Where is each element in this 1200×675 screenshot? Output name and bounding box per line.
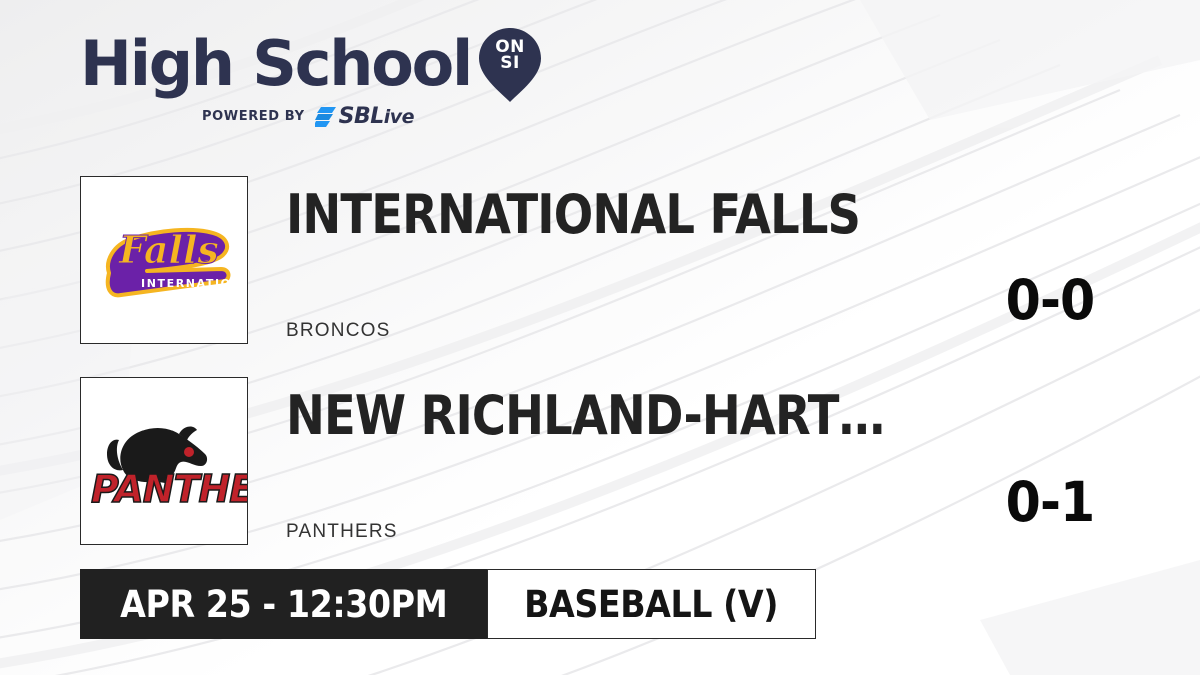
svg-text:PANTHERS: PANTHERS: [91, 467, 247, 511]
game-sport-text: BASEBALL (V): [525, 583, 779, 626]
on-si-pin-icon: ON SI: [479, 28, 541, 102]
sblive-bolt-icon: [315, 107, 337, 127]
team-logo-panthers: PANTHERS: [80, 377, 248, 545]
pin-label-line2: SI: [479, 55, 541, 71]
matchup-graphic: High School ON SI POWERED BY SBLive: [0, 0, 1200, 675]
game-info-bar: APR 25 - 12:30PM BASEBALL (V): [80, 569, 816, 639]
team-record: 0-1: [949, 475, 1151, 530]
team-record: 0-0: [949, 273, 1151, 328]
team-info: INTERNATIONAL FALLS BRONCOS: [286, 176, 1010, 346]
powered-by-row: POWERED BY SBLive: [80, 104, 540, 129]
game-sport: BASEBALL (V): [487, 569, 815, 639]
team-name: NEW RICHLAND-HARTLAND...: [286, 385, 909, 447]
game-datetime: APR 25 - 12:30PM: [80, 569, 487, 639]
sblive-wordmark: SBLive: [339, 104, 414, 129]
game-datetime-text: APR 25 - 12:30PM: [120, 583, 447, 626]
brand-header: High School ON SI POWERED BY SBLive: [80, 28, 540, 138]
team-row: PANTHERS NEW RICHLAND-HARTLAND... PANTHE…: [80, 377, 1120, 547]
pin-label: ON SI: [479, 39, 541, 71]
team-info: NEW RICHLAND-HARTLAND... PANTHERS: [286, 377, 1010, 547]
team-row: Falls INTERNATIONAL INTERNATIONAL FALLS …: [80, 176, 1120, 346]
sblive-suffix: ive: [384, 106, 414, 128]
sblive-main: SBL: [339, 104, 384, 129]
powered-by-label: POWERED BY: [202, 109, 305, 124]
team-mascot: BRONCOS: [286, 320, 390, 342]
sblive-logo: SBLive: [315, 104, 414, 129]
team-mascot: PANTHERS: [286, 521, 398, 543]
svg-text:Falls: Falls: [118, 227, 219, 272]
team-logo-international-falls: Falls INTERNATIONAL: [80, 176, 248, 344]
svg-text:INTERNATIONAL: INTERNATIONAL: [141, 277, 247, 290]
brand-wordmark: High School ON SI: [80, 28, 540, 100]
brand-title: High School: [80, 33, 471, 95]
team-name: INTERNATIONAL FALLS: [286, 184, 909, 246]
